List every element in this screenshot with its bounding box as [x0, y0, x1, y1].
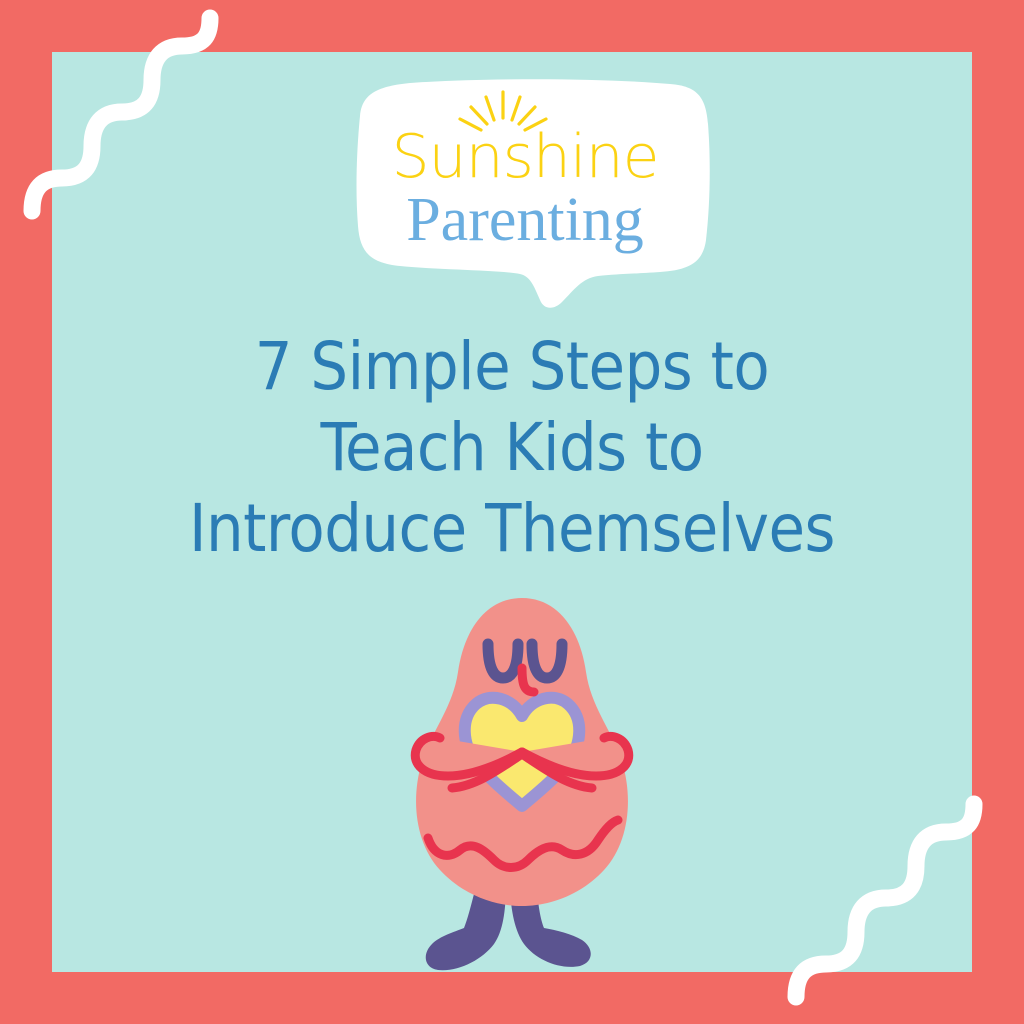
character-illustration — [372, 588, 672, 978]
logo-text-sunshine: Sunshine — [391, 127, 658, 187]
headline-line-1: 7 Simple Steps to — [52, 326, 972, 407]
logo-speech-bubble: Sunshine Parenting — [330, 76, 720, 316]
headline-line-2: Teach Kids to — [52, 407, 972, 488]
poster-canvas: Sunshine Parenting 7 Simple Steps to Tea… — [0, 0, 1024, 1024]
headline-title: 7 Simple Steps to Teach Kids to Introduc… — [52, 326, 972, 570]
brand-logo: Sunshine Parenting — [330, 76, 720, 266]
logo-text-parenting: Parenting — [406, 189, 644, 251]
headline-line-3: Introduce Themselves — [52, 488, 972, 569]
